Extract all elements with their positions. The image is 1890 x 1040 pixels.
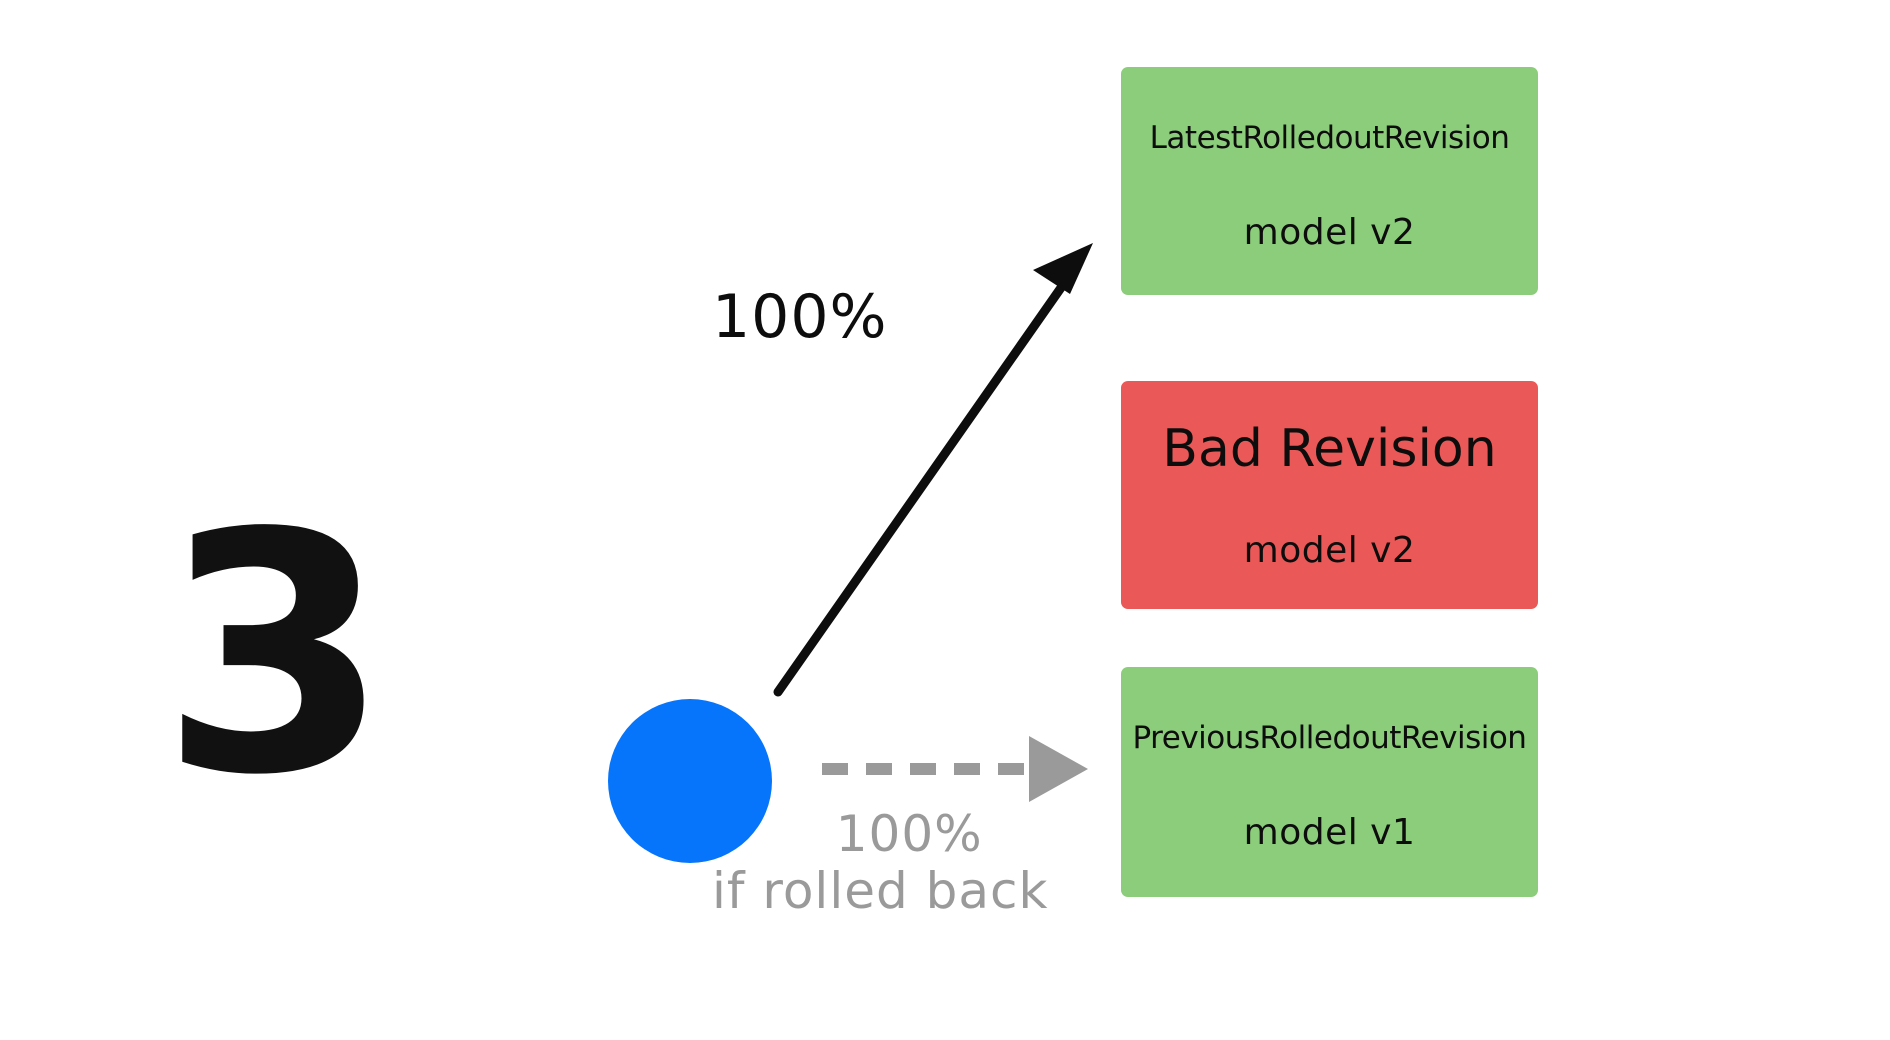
revision-box-previous-rolledout-revision[interactable]: PreviousRolledoutRevision model v1 — [1121, 667, 1538, 897]
step-number: 3 — [150, 455, 400, 855]
revision-box-subtitle: model v2 — [1244, 215, 1416, 251]
dashed-arrow-to-previous-revision — [822, 736, 1088, 802]
revision-box-title: Bad Revision — [1162, 423, 1496, 475]
revision-box-title: LatestRolledoutRevision — [1150, 123, 1510, 154]
revision-box-subtitle: model v1 — [1244, 815, 1416, 851]
dashed-arrow-label-line1: 100% — [836, 805, 983, 863]
revision-box-subtitle: model v2 — [1244, 533, 1416, 569]
solid-arrow-label: 100% — [712, 286, 888, 349]
traffic-source-node[interactable] — [608, 699, 772, 863]
dashed-arrow-label: 100% if rolled back — [770, 808, 1048, 917]
dashed-arrow-label-line2: if rolled back — [712, 865, 1048, 918]
revision-box-latest-rolledout-revision[interactable]: LatestRolledoutRevision model v2 — [1121, 67, 1538, 295]
revision-box-bad-revision[interactable]: Bad Revision model v2 — [1121, 381, 1538, 609]
revision-box-title: PreviousRolledoutRevision — [1133, 723, 1527, 754]
